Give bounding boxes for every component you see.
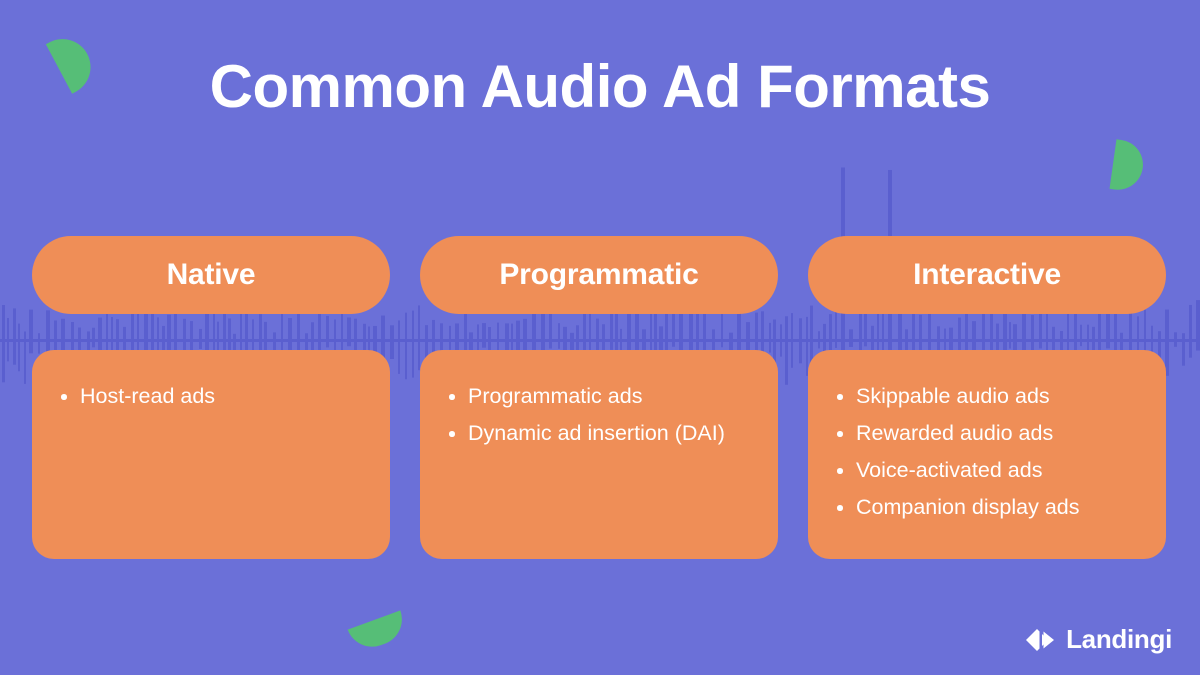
list-item: Programmatic ads (442, 378, 756, 415)
column-heading-native: Native (32, 236, 390, 314)
brand-name: Landingi (1066, 624, 1172, 655)
bullet-list-native: Host-read ads (54, 378, 368, 415)
list-item: Voice-activated ads (830, 452, 1144, 489)
column-body-interactive: Skippable audio ads Rewarded audio ads V… (808, 350, 1166, 559)
column-native: Native Host-read ads (32, 236, 390, 559)
column-body-programmatic: Programmatic ads Dynamic ad insertion (D… (420, 350, 778, 559)
list-item: Host-read ads (54, 378, 368, 415)
bullet-list-interactive: Skippable audio ads Rewarded audio ads V… (830, 378, 1144, 526)
list-item: Rewarded audio ads (830, 415, 1144, 452)
leaf-icon-bottom (348, 610, 410, 654)
column-heading-interactive: Interactive (808, 236, 1166, 314)
column-interactive: Interactive Skippable audio ads Rewarded… (808, 236, 1166, 559)
list-item: Companion display ads (830, 489, 1144, 526)
slide-canvas: Common Audio Ad Formats Native Host-read… (0, 0, 1200, 675)
list-item: Dynamic ad insertion (DAI) (442, 415, 756, 452)
column-heading-programmatic: Programmatic (420, 236, 778, 314)
landingi-diamond-icon (1025, 626, 1055, 654)
list-item: Skippable audio ads (830, 378, 1144, 415)
bullet-list-programmatic: Programmatic ads Dynamic ad insertion (D… (442, 378, 756, 452)
leaf-icon-right (1110, 139, 1147, 193)
page-title: Common Audio Ad Formats (0, 54, 1200, 120)
format-columns: Native Host-read ads Programmatic Progra… (32, 236, 1168, 559)
brand-logo: Landingi (1025, 624, 1172, 655)
column-body-native: Host-read ads (32, 350, 390, 559)
column-programmatic: Programmatic Programmatic ads Dynamic ad… (420, 236, 778, 559)
